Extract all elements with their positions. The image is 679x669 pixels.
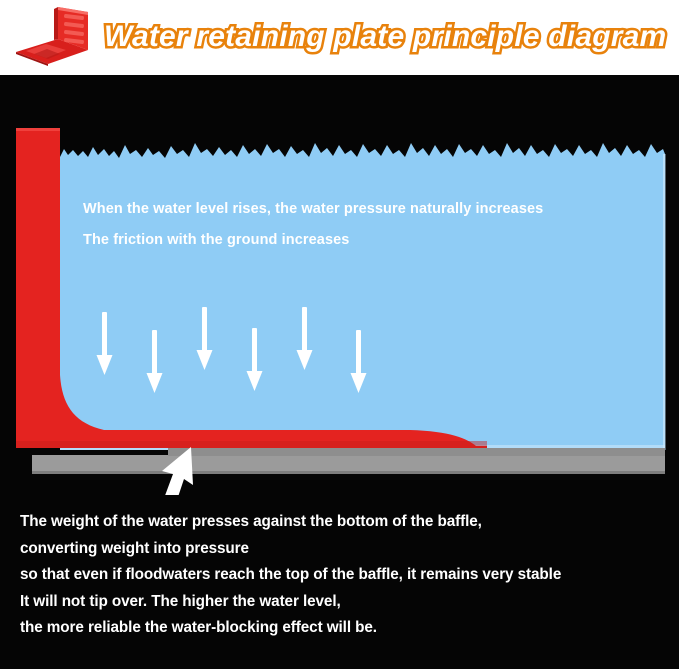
page-title: Water retaining plate principle diagram [104,10,674,64]
water-retaining-plate-diagram-page: Water retaining plate principle diagram [0,0,679,669]
water-label-line-2: The friction with the ground increases [83,232,349,248]
caption-line-5: the more reliable the water-blocking eff… [20,615,670,642]
caption-line-3: so that even if floodwaters reach the to… [20,562,670,589]
caption-line-2: converting weight into pressure [20,536,670,563]
ground-surface [32,448,665,474]
water-body [60,143,666,450]
caption-line-1: The weight of the water presses against … [20,509,670,536]
page-header: Water retaining plate principle diagram [0,0,679,75]
water-label-line-1: When the water level rises, the water pr… [83,201,543,217]
diagram-illustration [0,75,679,495]
caption-line-4: It will not tip over. The higher the wat… [20,589,670,616]
diagram-canvas: When the water level rises, the water pr… [0,75,679,669]
caption-block: The weight of the water presses against … [20,509,670,642]
flood-barrier-product-icon [14,6,92,68]
